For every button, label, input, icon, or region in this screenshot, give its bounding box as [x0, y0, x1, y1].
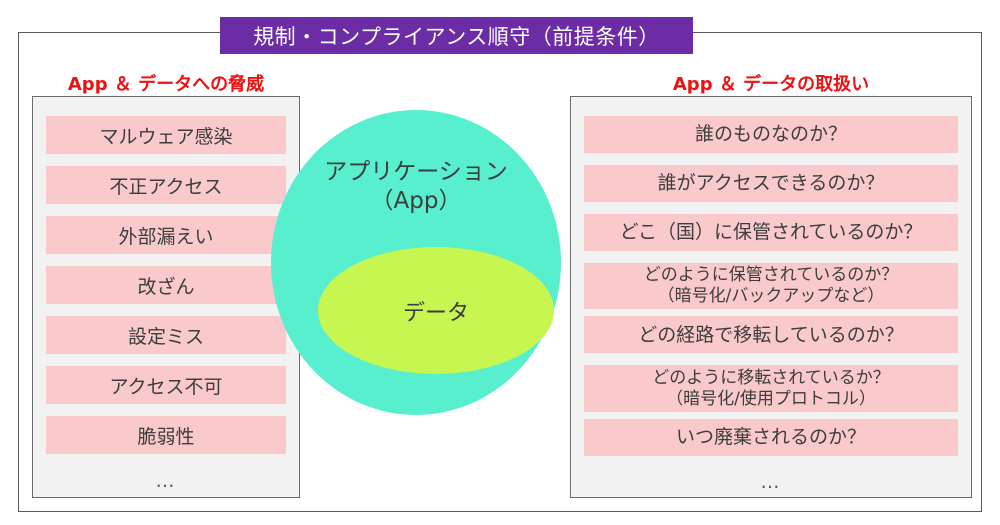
list-item-line1: どのように移転されているか？: [652, 368, 890, 389]
list-item-line2: （暗号化/使用プロトコル）: [652, 389, 890, 410]
right-column-heading: App ＆ データの取扱い: [570, 70, 972, 96]
list-item: 誰がアクセスできるのか？: [584, 165, 958, 202]
list-item-line1: 誰のものなのか？: [695, 124, 847, 145]
handling-panel: 誰のものなのか？ 誰がアクセスできるのか？ どこ（国）に保管されているのか？ ど…: [570, 96, 972, 498]
handling-list: 誰のものなのか？ 誰がアクセスできるのか？ どこ（国）に保管されているのか？ ど…: [571, 97, 971, 497]
list-item: 設定ミス: [46, 316, 286, 354]
list-item: 改ざん: [46, 266, 286, 304]
list-item-line2: （暗号化/バックアップなど）: [644, 286, 899, 307]
data-ellipse: データ: [318, 247, 554, 374]
list-item-line1: いつ廃棄されるのか？: [676, 427, 866, 448]
diagram-canvas: 規制・コンプライアンス順守（前提条件） App ＆ データへの脅威 App ＆ …: [0, 0, 1000, 525]
compliance-banner: 規制・コンプライアンス順守（前提条件）: [220, 17, 693, 54]
list-item-line1: どこ（国）に保管されているのか？: [620, 222, 923, 243]
list-item: マルウェア感染: [46, 116, 286, 154]
list-item: アクセス不可: [46, 366, 286, 404]
threats-list: マルウェア感染 不正アクセス 外部漏えい 改ざん 設定ミス アクセス不可 脆弱性…: [33, 97, 299, 497]
left-ellipsis: …: [46, 466, 286, 496]
list-item-line1: どの経路で移転しているのか？: [638, 325, 903, 346]
threats-panel: マルウェア感染 不正アクセス 外部漏えい 改ざん 設定ミス アクセス不可 脆弱性…: [32, 96, 300, 498]
list-item: どのように移転されているか？ （暗号化/使用プロトコル）: [584, 365, 958, 412]
application-label-line1: アプリケーション: [271, 158, 561, 187]
data-label: データ: [318, 247, 554, 374]
list-item: 不正アクセス: [46, 166, 286, 204]
list-item: 脆弱性: [46, 416, 286, 454]
application-label-line2: （App）: [271, 187, 561, 216]
list-item: どこ（国）に保管されているのか？: [584, 214, 958, 251]
left-column-heading: App ＆ データへの脅威: [32, 70, 300, 96]
application-label: アプリケーション （App）: [271, 158, 561, 217]
list-item-line1: どのように保管されているのか？: [644, 265, 899, 286]
right-ellipsis: …: [584, 468, 958, 497]
list-item: いつ廃棄されるのか？: [584, 419, 958, 456]
list-item-line1: 誰がアクセスできるのか？: [658, 173, 885, 194]
list-item: どの経路で移転しているのか？: [584, 316, 958, 353]
list-item: どのように保管されているのか？ （暗号化/バックアップなど）: [584, 263, 958, 310]
list-item: 誰のものなのか？: [584, 116, 958, 153]
list-item: 外部漏えい: [46, 216, 286, 254]
